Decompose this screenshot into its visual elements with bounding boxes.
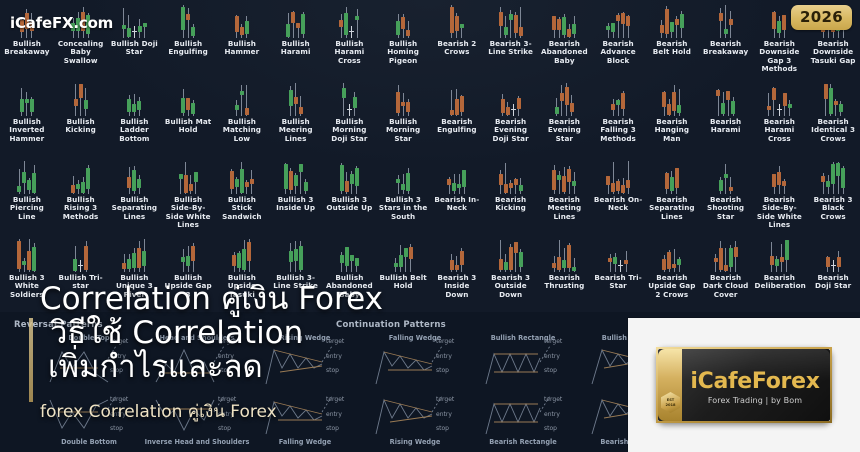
candle (20, 88, 24, 116)
candle (726, 91, 730, 116)
candle-glyph (269, 156, 323, 196)
candlestick-pattern-label: Bearish Doji Star (806, 274, 860, 291)
candlestick-pattern-cell: Bearish Shooting Star (699, 156, 753, 234)
candlestick-pattern-cell: Bearish Advance Block (591, 0, 645, 78)
candlestick-pattern-label: Bearish 2 Crows (430, 40, 484, 57)
candle (406, 168, 410, 194)
candle (555, 98, 559, 116)
candlestick-pattern-label: Concealing Baby Swallow (54, 40, 108, 65)
candlestick-pattern-label: Bearish Kicking (484, 196, 538, 213)
candle (399, 245, 403, 272)
candle (450, 5, 454, 38)
candle-glyph (323, 0, 377, 40)
candle (724, 5, 728, 38)
candle (353, 92, 357, 116)
candlestick-pattern-label: Bearish Advance Block (591, 40, 645, 65)
candle (447, 177, 451, 194)
candle (194, 172, 198, 194)
candlestick-pattern-label: Bullish 3 Stars in the South (376, 196, 430, 221)
candle (181, 5, 185, 38)
candle-glyph (215, 0, 269, 40)
candle (245, 16, 249, 38)
candle (826, 175, 830, 194)
candle (677, 89, 681, 116)
candlestick-pattern-cell: Bullish Breakaway (0, 0, 54, 78)
candle (782, 179, 786, 194)
candle (406, 99, 410, 116)
candle (719, 241, 723, 272)
candle (340, 252, 344, 272)
candle (455, 13, 459, 38)
candle (191, 243, 195, 272)
candle (127, 167, 131, 194)
candle (514, 242, 518, 272)
candle (824, 84, 828, 116)
candle-glyph (484, 0, 538, 40)
candlestick-pattern-label: Bearish Belt Hold (645, 40, 699, 57)
candle-glyph (108, 234, 162, 274)
candlestick-pattern-cell: Bullish Ladder Bottom (108, 78, 162, 156)
candle (132, 248, 136, 272)
candlestick-pattern-label: Bearish Upside Gap 2 Crows (645, 274, 699, 299)
candle (350, 171, 354, 194)
candle-glyph (0, 156, 54, 196)
candle (245, 85, 249, 116)
candle (509, 10, 513, 38)
candle (517, 96, 521, 116)
candlestick-pattern-cell: Bearish Evening Star (538, 78, 592, 156)
candle (230, 169, 234, 194)
candlestick-pattern-cell: Bearish Evening Doji Star (484, 78, 538, 156)
candle-glyph (699, 78, 753, 118)
candlestick-pattern-cell: Bearish Belt Hold (645, 0, 699, 78)
candle (127, 254, 131, 272)
headline-subline: forex Correlation คู่เงิน Forex (40, 398, 277, 425)
candlestick-pattern-cell: Bearish 3-Line Strike (484, 0, 538, 78)
candle-glyph (108, 156, 162, 196)
candle (837, 251, 841, 272)
candle (831, 162, 835, 194)
candle (22, 161, 26, 194)
candle (291, 11, 295, 38)
candle-glyph (591, 78, 645, 118)
candle (552, 165, 556, 194)
candlestick-pattern-grid: Bullish BreakawayConcealing Baby Swallow… (0, 0, 860, 312)
candle (240, 85, 244, 116)
doji-candle (511, 104, 516, 116)
candle (289, 243, 293, 272)
candle-glyph (376, 0, 430, 40)
year-badge: 2026 (791, 5, 852, 30)
doji-candle (132, 26, 137, 38)
est-badge-year: 2018 (665, 403, 675, 408)
candlestick-pattern-label: Bearish Meeting Lines (538, 196, 592, 221)
candlestick-pattern-cell: Bearish Separating Lines (645, 156, 699, 234)
candle (829, 84, 833, 116)
candle (667, 250, 671, 272)
candle (345, 172, 349, 194)
candle (839, 101, 843, 116)
candle (514, 12, 518, 38)
candle (504, 254, 508, 272)
candle (767, 93, 771, 116)
candle (355, 166, 359, 194)
candlestick-pattern-label: Bullish Mat Hold (161, 118, 215, 135)
candlestick-pattern-label: Bullish Engulfing (161, 40, 215, 57)
candle (552, 256, 556, 272)
candle (179, 174, 183, 194)
candlestick-pattern-cell: Bearish On-Neck (591, 156, 645, 234)
candle (76, 180, 80, 194)
candle (86, 165, 90, 194)
candle (772, 11, 776, 38)
candlestick-pattern-label: Bearish Identical 3 Crows (806, 118, 860, 143)
candlestick-pattern-cell: Bullish Side-By-Side White Lines (161, 156, 215, 234)
candlestick-pattern-label: Bearish 3 Black Crows (806, 196, 860, 221)
candlestick-pattern-cell: Bullish Stick Sandwich (215, 156, 269, 234)
candle (127, 95, 131, 116)
candle (299, 164, 303, 194)
candlestick-pattern-label: Bullish Stick Sandwich (215, 196, 269, 221)
candlestick-pattern-cell: Bullish Piercing Line (0, 156, 54, 234)
candle-glyph (323, 156, 377, 196)
candlestick-pattern-label: Bearish Hanging Man (645, 118, 699, 143)
candlestick-pattern-label: Bearish Downside Gap 3 Methods (753, 40, 807, 74)
candle (294, 173, 298, 194)
candle-glyph (323, 78, 377, 118)
candle (660, 20, 664, 38)
candle (567, 243, 571, 272)
candlestick-pattern-cell: Bearish Falling 3 Methods (591, 78, 645, 156)
screenshot-root: Bullish BreakawayConcealing Baby Swallow… (0, 0, 860, 452)
logo-subtitle: Forex Trading | by Bom (684, 396, 826, 405)
candle (836, 162, 840, 194)
candle (404, 248, 408, 272)
candlestick-pattern-cell: Bullish Morning Doji Star (323, 78, 377, 156)
candlestick-pattern-label: Bullish Morning Doji Star (323, 118, 377, 143)
candlestick-pattern-cell: Bullish Separating Lines (108, 156, 162, 234)
candlestick-pattern-label: Bullish Harami (269, 40, 323, 57)
candle (74, 84, 78, 116)
candle (499, 7, 503, 38)
candle-glyph (376, 156, 430, 196)
candle-glyph (161, 78, 215, 118)
candle-glyph (161, 156, 215, 196)
candle (782, 15, 786, 38)
candlestick-pattern-label: Bearish On-Neck (591, 196, 645, 213)
candle-glyph (699, 156, 753, 196)
candle (396, 175, 400, 194)
candle (770, 242, 774, 272)
candle-glyph (699, 234, 753, 274)
candle-glyph (484, 156, 538, 196)
candle (519, 178, 523, 194)
candle (289, 86, 293, 116)
candle (621, 91, 625, 116)
candle (401, 93, 405, 116)
candle (504, 163, 508, 194)
candlestick-pattern-label: Bearish Dark Cloud Cover (699, 274, 753, 299)
candlestick-pattern-cell: Bearish Hanging Man (645, 78, 699, 156)
candle (344, 7, 348, 38)
site-watermark: iCafeFX.com (10, 14, 113, 32)
candle (662, 91, 666, 116)
candle (181, 89, 185, 116)
gold-accent-bar (29, 318, 33, 402)
candle (506, 102, 510, 116)
candlestick-pattern-cell: Bullish Matching Low (215, 78, 269, 156)
candle-row: Bullish Piercing LineBullish Rising 3 Me… (0, 156, 860, 234)
candlestick-pattern-label: Bullish Doji Star (108, 40, 162, 57)
candle (455, 89, 459, 116)
candle (780, 244, 784, 272)
candle (499, 170, 503, 194)
candlestick-pattern-label: Bearish Downside Tasuki Gap (806, 40, 860, 65)
candle-glyph (269, 78, 323, 118)
candlestick-pattern-label: Bullish 3 Outside Up (323, 196, 377, 213)
candle (350, 255, 354, 272)
headline-line-2: วิธีใช้ Correlation (50, 316, 640, 350)
candle (84, 88, 88, 116)
candle (339, 14, 343, 38)
candle (462, 170, 466, 194)
candle (286, 13, 290, 38)
candle (294, 83, 298, 116)
candle (247, 239, 251, 272)
doji-candle (777, 104, 782, 116)
candle (457, 174, 461, 194)
candle (672, 249, 676, 272)
candle-glyph (54, 78, 108, 118)
candlestick-pattern-cell: Bullish Hammer (215, 0, 269, 78)
candlestick-pattern-label: Bearish Breakaway (699, 40, 753, 57)
candle (137, 97, 141, 116)
candlestick-pattern-label: Bearish Shooting Star (699, 196, 753, 221)
candle (557, 171, 561, 194)
candlestick-pattern-label: Bearish Engulfing (430, 118, 484, 135)
candle-glyph (430, 234, 484, 274)
headline-line-3: เพิ่มกำไรและลด (48, 350, 640, 384)
candle (240, 162, 244, 194)
candle (122, 8, 126, 38)
candle (245, 180, 249, 194)
candle (724, 164, 728, 194)
candlestick-pattern-label: Bearish Evening Doji Star (484, 118, 538, 143)
candlestick-pattern-label: Bearish Harami (699, 118, 753, 135)
candle (783, 93, 787, 116)
candle (667, 99, 671, 116)
candle (729, 245, 733, 272)
candlestick-pattern-cell: Bearish Harami Cross (753, 78, 807, 156)
candle (460, 248, 464, 272)
candle-glyph (753, 78, 807, 118)
candlestick-pattern-label: Bullish Morning Star (376, 118, 430, 143)
candle (719, 8, 723, 38)
candlestick-pattern-cell: Bullish Doji Star (108, 0, 162, 78)
candle (143, 23, 147, 38)
candle (519, 7, 523, 38)
candlestick-pattern-cell: Bearish Kicking (484, 156, 538, 234)
candle-glyph (323, 234, 377, 274)
candle (841, 166, 845, 194)
candle (455, 256, 459, 272)
candlestick-pattern-label: Bullish Rising 3 Methods (54, 196, 108, 221)
candle (570, 95, 574, 116)
candle (714, 254, 718, 272)
candlestick-pattern-cell: Bullish 3 Stars in the South (376, 156, 430, 234)
candle-glyph (161, 0, 215, 40)
annotation-stop: stop (326, 425, 339, 432)
candle (572, 16, 576, 38)
candle (670, 22, 674, 38)
candle (616, 179, 620, 194)
candle (626, 161, 630, 194)
logo-title: iCafeForex (684, 369, 826, 394)
candle (606, 23, 610, 38)
candlestick-pattern-cell: Bullish Homing Pigeon (376, 0, 430, 78)
candlestick-pattern-cell: Bearish Meeting Lines (538, 156, 592, 234)
candle (452, 174, 456, 194)
candle (562, 248, 566, 272)
candlestick-pattern-label: Bullish Homing Pigeon (376, 40, 430, 65)
candle (567, 166, 571, 194)
candle (626, 15, 630, 38)
candlestick-pattern-label: Bullish Side-By-Side White Lines (161, 196, 215, 230)
candle-glyph (645, 234, 699, 274)
candle (232, 252, 236, 272)
candle-glyph (54, 234, 108, 274)
candlestick-pattern-cell: Bullish Meering Lines (269, 78, 323, 156)
candlestick-pattern-cell: Bullish Inverted Hammer (0, 78, 54, 156)
candle-glyph (645, 78, 699, 118)
candle-glyph (269, 0, 323, 40)
candle (132, 94, 136, 116)
candlestick-pattern-label: Bullish Breakaway (0, 40, 54, 57)
candle (785, 240, 789, 272)
candlestick-pattern-label: Bearish Side-By-Side White Lines (753, 196, 807, 230)
candlestick-pattern-label: Bearish In- Neck (430, 196, 484, 213)
headline-line-1: Correlation คู่เงิน Forex (40, 282, 640, 316)
candlestick-pattern-cell: Bullish Engulfing (161, 0, 215, 78)
candle (32, 165, 36, 194)
candlestick-pattern-cell: Bullish Kicking (54, 78, 108, 156)
candle (675, 168, 679, 194)
candle-glyph (215, 156, 269, 196)
candle (396, 85, 400, 116)
candle-glyph (161, 234, 215, 274)
candle (729, 11, 733, 38)
candle (409, 244, 413, 272)
candle (189, 175, 193, 194)
candle-glyph (430, 0, 484, 40)
candle (611, 23, 615, 38)
candlestick-pattern-label: Bearish Falling 3 Methods (591, 118, 645, 143)
candle (621, 178, 625, 194)
candle (17, 169, 21, 194)
candle (235, 177, 239, 194)
candle (621, 12, 625, 38)
candle (340, 163, 344, 194)
candle-glyph (538, 234, 592, 274)
candlestick-pattern-cell: Bullish 3 Inside Up (269, 156, 323, 234)
candle (662, 255, 666, 272)
candle (237, 251, 241, 272)
candle (301, 12, 305, 38)
candle (84, 241, 88, 272)
candle (122, 254, 126, 272)
candle (821, 173, 825, 194)
candle (834, 99, 838, 116)
candlestick-pattern-cell: Bullish Rising 3 Methods (54, 156, 108, 234)
candle-glyph (376, 234, 430, 274)
candle-glyph (54, 156, 108, 196)
candle (138, 19, 142, 38)
candle (775, 256, 779, 272)
candle (71, 176, 75, 194)
candlestick-pattern-cell: Bearish Engulfing (430, 78, 484, 156)
candlestick-pattern-label: Bearish Deliberation (753, 274, 807, 291)
candle (677, 257, 681, 272)
candle (572, 258, 576, 272)
candlestick-pattern-cell: Bearish Side-By-Side White Lines (753, 156, 807, 234)
candle (184, 162, 188, 194)
candle (32, 243, 36, 272)
candle (731, 97, 735, 116)
candle (394, 258, 398, 272)
candlestick-pattern-cell: Bullish Harami Cross (323, 0, 377, 78)
candle (181, 249, 185, 272)
candle (460, 95, 464, 116)
candle-glyph (591, 234, 645, 274)
logo-panel: EST 2018 iCafeForex Forex Trading | by B… (628, 318, 860, 452)
candle (137, 175, 141, 194)
logo-card: EST 2018 iCafeForex Forex Trading | by B… (656, 347, 832, 423)
candle-glyph (753, 156, 807, 196)
candle (235, 100, 239, 116)
candle (186, 8, 190, 38)
candle (299, 96, 303, 116)
candle (406, 21, 410, 38)
candle (27, 178, 31, 194)
candle (504, 16, 508, 38)
candle-row: Bullish BreakawayConcealing Baby Swallow… (0, 0, 860, 78)
candle (608, 254, 612, 272)
candle (294, 241, 298, 272)
candle-glyph (538, 156, 592, 196)
candle (567, 24, 571, 38)
candle (729, 177, 733, 194)
candle (611, 99, 615, 116)
candle (142, 239, 146, 272)
candle-glyph (430, 156, 484, 196)
candle (186, 246, 190, 272)
candlestick-pattern-label: Bullish Harami Cross (323, 40, 377, 65)
candlestick-pattern-label: Bullish Matching Low (215, 118, 269, 143)
candle (137, 241, 141, 272)
candle (665, 172, 669, 194)
candle (342, 83, 346, 116)
candle (401, 174, 405, 194)
candle (557, 240, 561, 272)
candlestick-pattern-cell: Bearish Breakaway (699, 0, 753, 78)
candle (719, 177, 723, 194)
candle (501, 94, 505, 116)
candlestick-pattern-label: Bullish 3 Inside Up (269, 196, 323, 213)
candle (299, 241, 303, 272)
candle-glyph (0, 234, 54, 274)
candle-glyph (538, 78, 592, 118)
candle (186, 98, 190, 116)
